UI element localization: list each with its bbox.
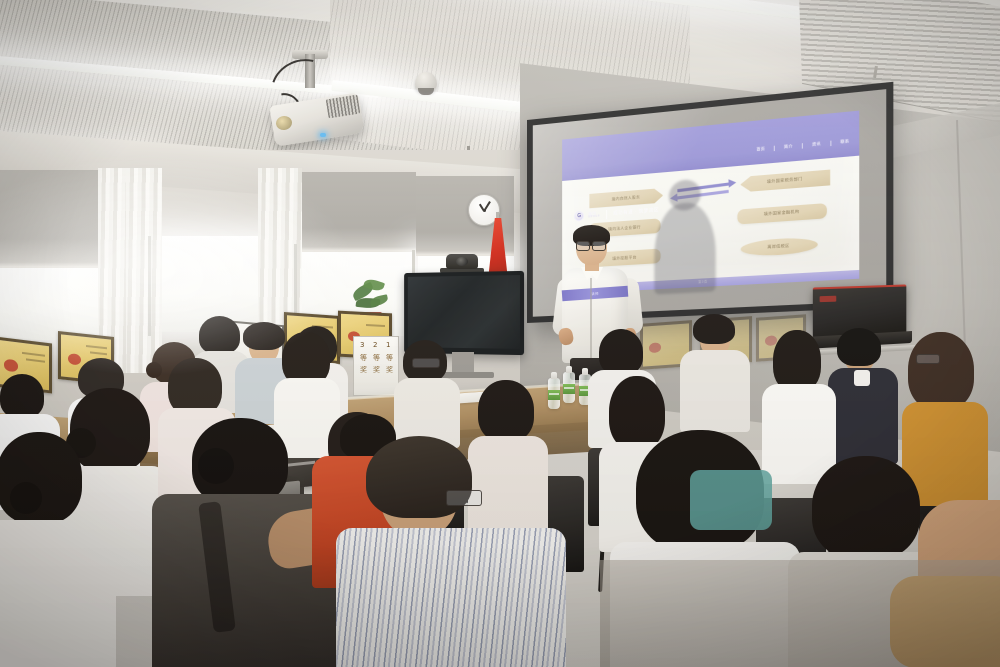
window-pane-1	[0, 262, 110, 340]
eyeglasses-icon	[576, 241, 606, 249]
slide-nav-sep-1	[802, 143, 803, 149]
diagram-node-n2: 境外国家税务部门	[740, 170, 830, 193]
water-bottle-5	[563, 372, 575, 403]
slide-nav-item-0: 首页	[756, 146, 765, 152]
award-number-3: 3	[360, 341, 364, 349]
award-number-2: 2	[373, 341, 377, 349]
floor	[600, 560, 1000, 667]
slide-nav-sep-0	[774, 145, 775, 150]
roller-blind-2[interactable]	[296, 172, 416, 252]
tv-screen	[408, 275, 520, 349]
clock-center-pin	[483, 209, 486, 212]
slide-nav-sep-2	[830, 140, 831, 146]
award-number-1: 1	[386, 341, 390, 349]
diagram-node-n1: 境内自然人股东	[589, 188, 663, 209]
presenter-shirt-placket	[590, 278, 592, 358]
diagram-node-n6: 离岸低税区	[740, 236, 817, 258]
slide-nav-item-3: 联系	[840, 139, 849, 145]
award-number-sign: 3 2 1 等 等 等 奖 奖 奖	[353, 336, 399, 396]
window-mullion-1	[148, 236, 151, 336]
slide-nav-item-2: 资讯	[812, 141, 821, 147]
sheer-curtain-2[interactable]	[126, 168, 162, 373]
diagram-node-n4: 境外国家金融机构	[737, 203, 827, 225]
roller-blind-1[interactable]	[0, 170, 112, 268]
video-conference-camera	[446, 254, 478, 269]
tv-stand	[452, 352, 474, 374]
water-bottle-7	[548, 378, 560, 409]
presenter-badge-text: 讲师	[591, 291, 599, 297]
conference-room-photo: 3 2 1 等 等 等 奖 奖 奖 首页 简介 资讯	[0, 0, 1000, 667]
smoke-detector-icon	[415, 72, 437, 92]
laptop-logo-icon	[820, 296, 837, 302]
slide-nav-item-1: 简介	[784, 144, 793, 150]
